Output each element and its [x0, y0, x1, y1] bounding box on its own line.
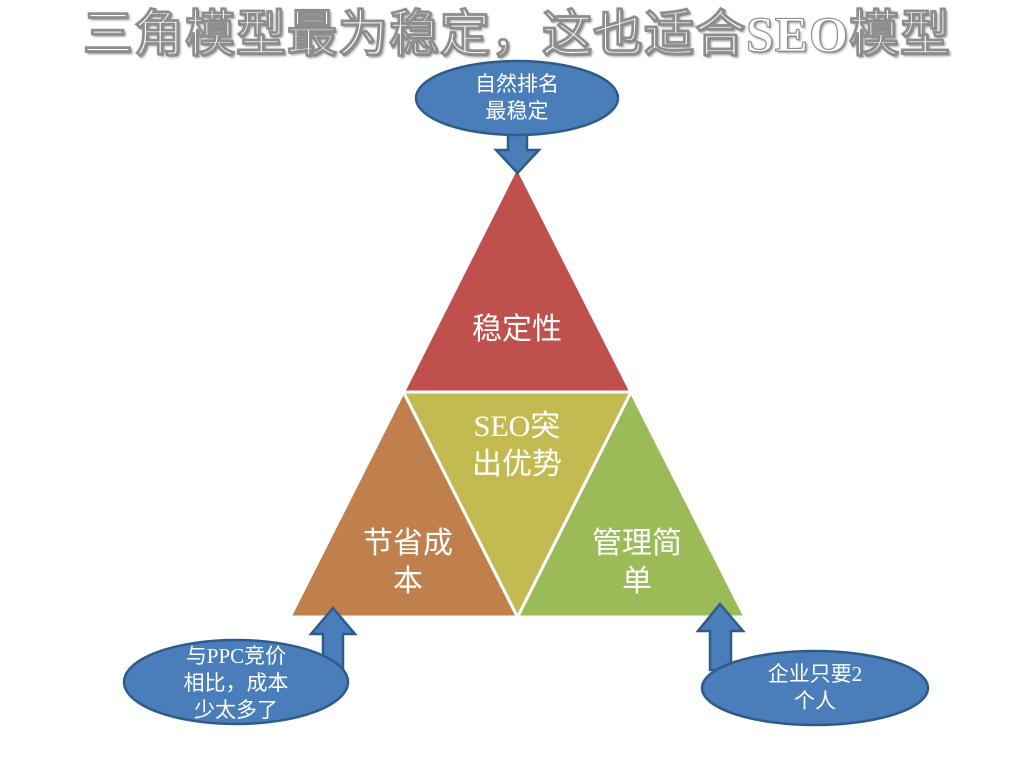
diagram-artboard: 稳定性 SEO突 出优势 节省成 本 管理简 单 自然排名 最稳定 与PPC竞价…	[0, 0, 1034, 773]
callout-bottom-left-line2: 相比，成本	[184, 671, 289, 695]
callout-top-line2: 最稳定	[486, 99, 549, 123]
callout-bottom-left-line1: 与PPC竞价	[186, 644, 286, 668]
callout-top-line1: 自然排名	[475, 72, 559, 96]
segment-label-save-cost-line2: 本	[393, 565, 423, 598]
segment-label-save-cost-line1: 节省成	[363, 527, 453, 560]
segment-label-seo-advantage-line1: SEO突	[474, 410, 561, 443]
pyramid-group: 稳定性 SEO突 出优势 节省成 本 管理简 单	[290, 167, 745, 617]
segment-label-seo-advantage-line2: 出优势	[472, 448, 562, 481]
callout-bottom-right[interactable]: 企业只要2 个人	[702, 651, 928, 725]
segment-label-easy-manage-line1: 管理简	[592, 527, 682, 560]
slide-canvas: 三角模型最为稳定，这也适合SEO模型 稳定性 SEO突 出优势 节省成 本 管理…	[0, 0, 1034, 773]
segment-label-stability: 稳定性	[472, 313, 562, 346]
callout-bottom-left[interactable]: 与PPC竞价 相比，成本 少太多了	[124, 640, 348, 724]
callout-bottom-right-line2: 个人	[794, 689, 836, 713]
segment-label-easy-manage-line2: 单	[622, 565, 652, 598]
segment-stability[interactable]	[404, 167, 632, 392]
callout-bottom-left-line3: 少太多了	[194, 698, 278, 722]
callout-top[interactable]: 自然排名 最稳定	[416, 61, 618, 135]
callout-bottom-right-line1: 企业只要2	[768, 662, 863, 686]
